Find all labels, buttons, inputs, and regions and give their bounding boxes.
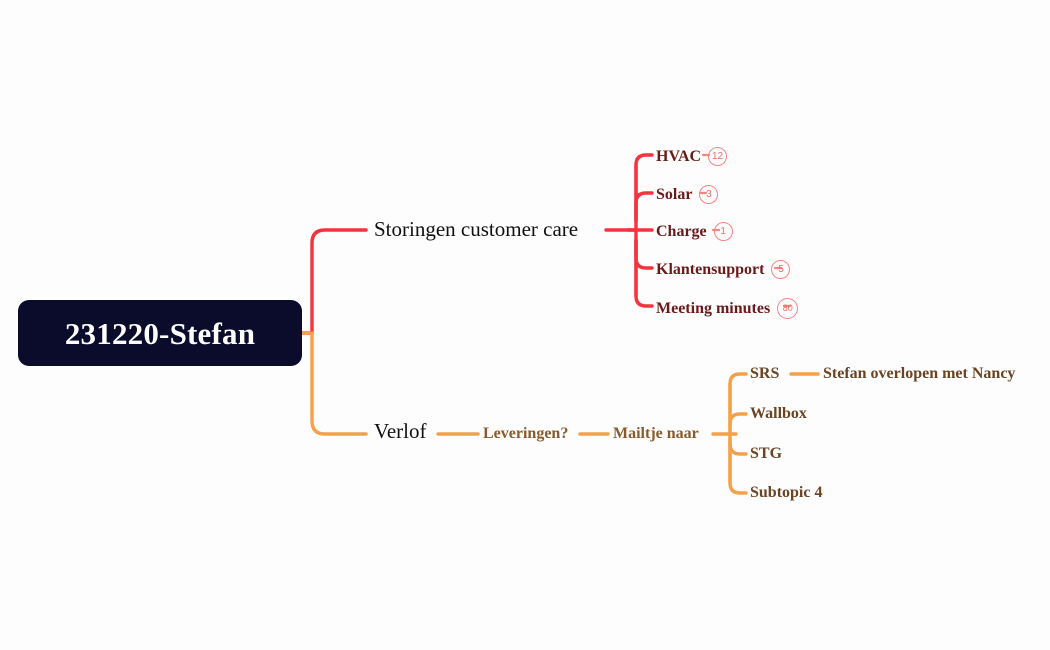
leaf-solar[interactable]: Solar 3 (656, 185, 718, 204)
edge-spine-hvac (636, 155, 652, 220)
branch-verlof-label: Verlof (374, 419, 426, 443)
leaf-hvac-badge[interactable]: 12 (708, 147, 727, 166)
branch-storingen-customer-care[interactable]: Storingen customer care (374, 219, 578, 240)
leaf-charge-label: Charge (656, 224, 707, 240)
leaf-klantensupport[interactable]: Klantensupport 5 (656, 260, 790, 279)
leaf-stg-label: STG (750, 446, 782, 462)
edge-spine-srs (730, 374, 746, 424)
chain-leveringen-label: Leveringen? (483, 425, 568, 442)
root-node[interactable]: 231220-Stefan (18, 300, 302, 366)
chain-mailtje-naar[interactable]: Mailtje naar (613, 426, 699, 442)
leaf-srs-label: SRS (750, 366, 779, 382)
chain-mailtje-naar-label: Mailtje naar (613, 425, 699, 442)
leaf-klantensupport-label: Klantensupport (656, 262, 764, 278)
edge-root-to-verlof (312, 333, 366, 434)
leaf-stefan-overlopen-met-nancy[interactable]: Stefan overlopen met Nancy (823, 366, 1015, 382)
leaf-hvac[interactable]: HVAC 12 (656, 147, 727, 166)
leaf-stefan-overlopen-met-nancy-label: Stefan overlopen met Nancy (823, 366, 1015, 382)
leaf-wallbox-label: Wallbox (750, 406, 807, 422)
edge-spine-subtopic4 (730, 444, 746, 493)
chain-leveringen[interactable]: Leveringen? (483, 426, 568, 442)
leaf-solar-label: Solar (656, 187, 692, 203)
leaf-solar-badge[interactable]: 3 (699, 185, 718, 204)
leaf-klantensupport-badge[interactable]: 5 (771, 260, 790, 279)
leaf-meeting-minutes[interactable]: Meeting minutes 80 (656, 298, 798, 319)
leaf-stg[interactable]: STG (750, 446, 782, 462)
branch-storingen-label: Storingen customer care (374, 217, 578, 241)
leaf-charge-badge[interactable]: 1 (714, 222, 733, 241)
root-node-label: 231220-Stefan (65, 318, 255, 349)
leaf-meeting-minutes-label: Meeting minutes (656, 301, 770, 317)
edge-root-to-storingen (312, 230, 366, 333)
leaf-wallbox[interactable]: Wallbox (750, 406, 807, 422)
leaf-charge[interactable]: Charge 1 (656, 222, 733, 241)
edge-spine-meeting-minutes (636, 240, 652, 306)
edge-spine-klantensupport (636, 240, 652, 268)
mindmap-canvas: 231220-Stefan Storingen customer care Ve… (0, 0, 1050, 650)
edge-spine-wallbox (730, 414, 746, 430)
leaf-subtopic-4-label: Subtopic 4 (750, 485, 822, 501)
leaf-subtopic-4[interactable]: Subtopic 4 (750, 485, 822, 501)
edge-spine-stg (730, 438, 746, 454)
leaf-srs[interactable]: SRS (750, 366, 779, 382)
edge-spine-solar (636, 193, 652, 222)
branch-verlof[interactable]: Verlof (374, 421, 426, 442)
leaf-meeting-minutes-badge[interactable]: 80 (777, 298, 798, 319)
leaf-hvac-label: HVAC (656, 149, 701, 165)
